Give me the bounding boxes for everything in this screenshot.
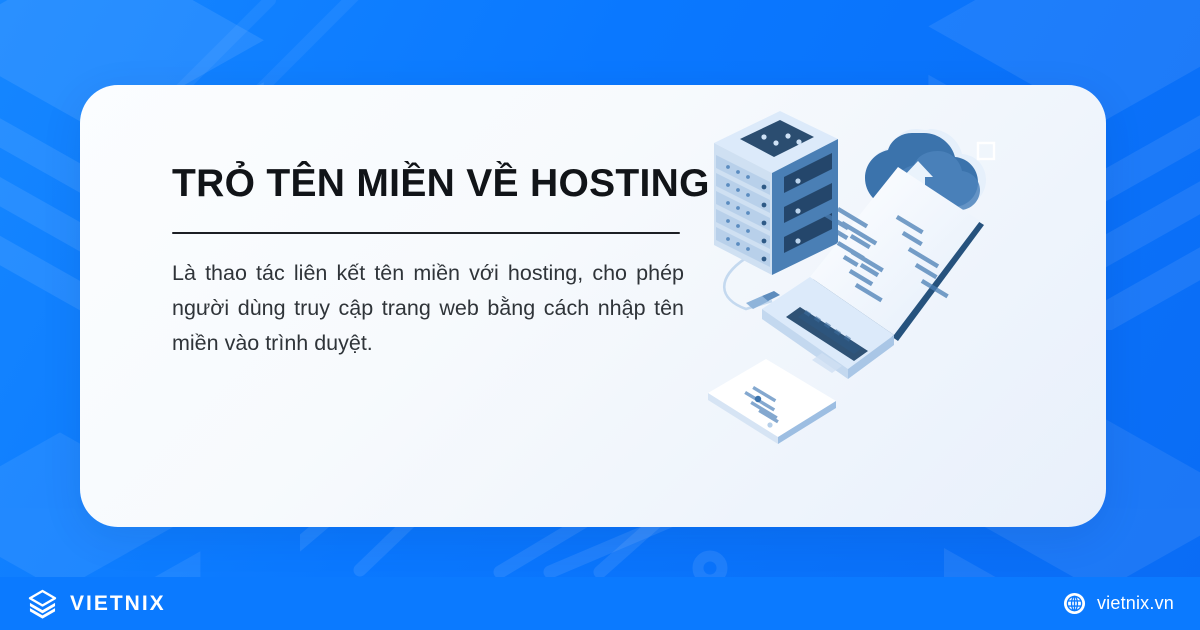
description-text: Là thao tác liên kết tên miền với hostin…: [172, 256, 684, 360]
smartphone-icon: [708, 359, 836, 444]
text-column: TRỎ TÊN MIỀN VỀ HOSTING Là thao tác liên…: [80, 85, 720, 527]
content-card: TRỎ TÊN MIỀN VỀ HOSTING Là thao tác liên…: [80, 85, 1106, 527]
server-rack-icon: [714, 111, 838, 275]
title-divider: [172, 232, 680, 234]
website-url: vietnix.vn: [1097, 593, 1174, 614]
website-link[interactable]: vietnix.vn: [1063, 592, 1174, 615]
globe-icon: [1063, 592, 1086, 615]
stacked-layers-icon: [26, 587, 59, 620]
square-marker-icon: [978, 143, 994, 159]
isometric-hosting-illustration: [702, 103, 1032, 463]
brand-logo[interactable]: VIETNIX: [26, 587, 166, 620]
brand-name: VIETNIX: [70, 592, 166, 616]
banner: TRỎ TÊN MIỀN VỀ HOSTING Là thao tác liên…: [0, 0, 1200, 630]
illustration-column: [720, 85, 1106, 527]
footer-bar: VIETNIX vietnix.vn: [0, 577, 1200, 630]
page-title: TRỎ TÊN MIỀN VỀ HOSTING: [172, 163, 720, 205]
